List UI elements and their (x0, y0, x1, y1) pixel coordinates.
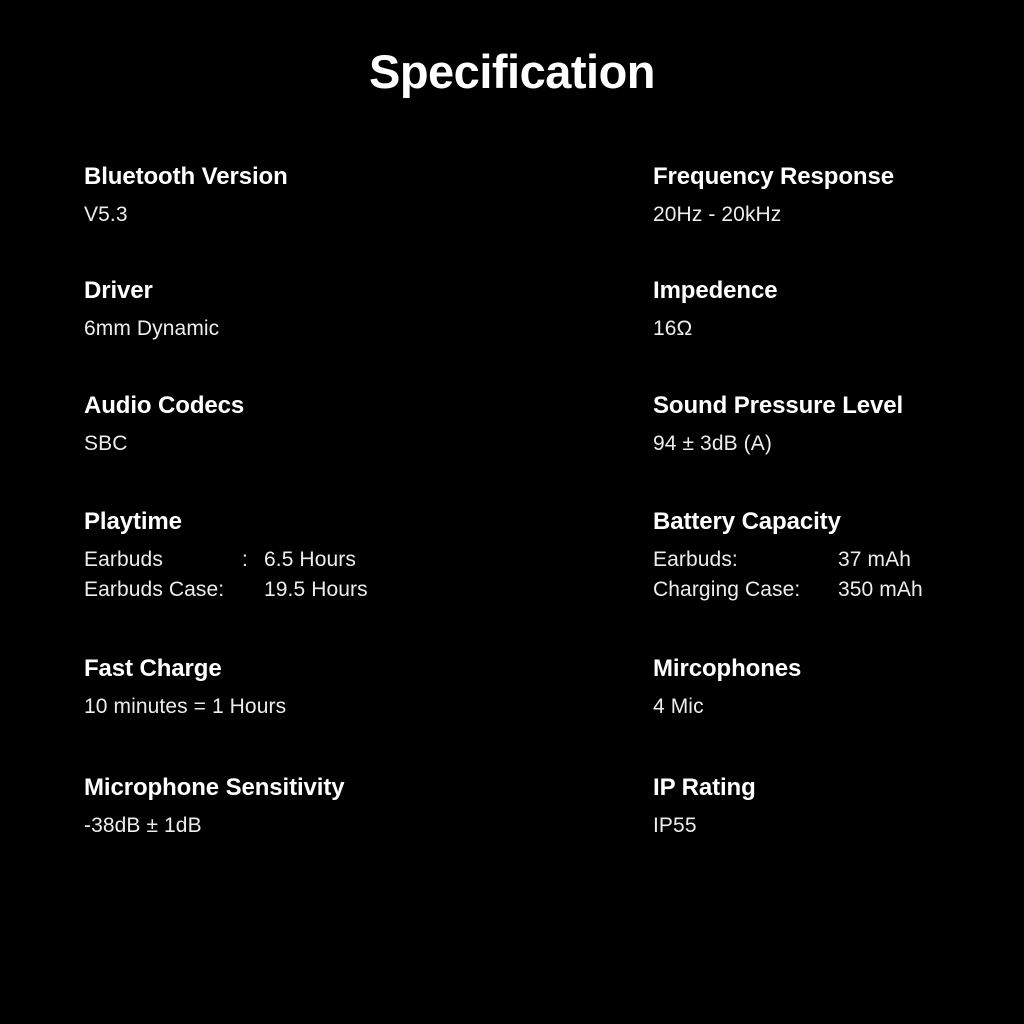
spec-heading: Battery Capacity (653, 508, 1024, 536)
spec-heading: Frequency Response (653, 163, 1024, 191)
spec-row: Earbuds:37 mAh (653, 545, 1024, 575)
spec-row-label: Charging Case: (653, 575, 838, 605)
spec-row-label: Earbuds (84, 545, 242, 575)
spec-block-impedence: Impedence 16Ω (653, 277, 1024, 342)
spec-block-battery-capacity: Battery Capacity Earbuds:37 mAh Charging… (653, 508, 1024, 605)
spec-row-value: 19.5 Hours (264, 575, 368, 605)
spec-row-value: 350 mAh (838, 575, 923, 605)
spec-rows: Earbuds:6.5 Hours Earbuds Case:19.5 Hour… (84, 545, 464, 605)
spec-heading: Fast Charge (84, 655, 464, 683)
spec-value: 16Ω (653, 316, 1024, 342)
spec-block-driver: Driver 6mm Dynamic (84, 277, 464, 342)
spec-rows: Earbuds:37 mAh Charging Case:350 mAh (653, 545, 1024, 605)
spec-value: 20Hz - 20kHz (653, 202, 1024, 228)
spec-block-sound-pressure-level: Sound Pressure Level 94 ± 3dB (A) (653, 392, 1024, 457)
specification-page: Specification Bluetooth Version V5.3 Dri… (0, 0, 1024, 1024)
spec-heading: Microphone Sensitivity (84, 774, 464, 802)
spec-value: 94 ± 3dB (A) (653, 431, 1024, 457)
spec-row-separator: : (242, 545, 264, 575)
spec-value: 4 Mic (653, 694, 1024, 720)
spec-value: -38dB ± 1dB (84, 813, 464, 839)
spec-block-frequency-response: Frequency Response 20Hz - 20kHz (653, 163, 1024, 228)
spec-heading: Mircophones (653, 655, 1024, 683)
spec-heading: Impedence (653, 277, 1024, 305)
spec-value: IP55 (653, 813, 1024, 839)
spec-block-playtime: Playtime Earbuds:6.5 Hours Earbuds Case:… (84, 508, 464, 605)
spec-heading: Audio Codecs (84, 392, 464, 420)
spec-heading: Driver (84, 277, 464, 305)
spec-row-value: 37 mAh (838, 545, 911, 575)
spec-heading: Sound Pressure Level (653, 392, 1024, 420)
spec-block-mircophones: Mircophones 4 Mic (653, 655, 1024, 720)
spec-row-label: Earbuds: (653, 545, 838, 575)
spec-value: SBC (84, 431, 464, 457)
spec-value: 6mm Dynamic (84, 316, 464, 342)
spec-block-microphone-sensitivity: Microphone Sensitivity -38dB ± 1dB (84, 774, 464, 839)
spec-block-bluetooth-version: Bluetooth Version V5.3 (84, 163, 464, 228)
spec-value: 10 minutes = 1 Hours (84, 694, 464, 720)
spec-block-ip-rating: IP Rating IP55 (653, 774, 1024, 839)
spec-block-audio-codecs: Audio Codecs SBC (84, 392, 464, 457)
page-title: Specification (0, 48, 1024, 95)
spec-row: Earbuds Case:19.5 Hours (84, 575, 464, 605)
spec-heading: IP Rating (653, 774, 1024, 802)
spec-heading: Bluetooth Version (84, 163, 464, 191)
spec-row-label: Earbuds Case: (84, 575, 242, 605)
spec-heading: Playtime (84, 508, 464, 536)
spec-row-value: 6.5 Hours (264, 545, 356, 575)
spec-block-fast-charge: Fast Charge 10 minutes = 1 Hours (84, 655, 464, 720)
spec-row: Earbuds:6.5 Hours (84, 545, 464, 575)
spec-value: V5.3 (84, 202, 464, 228)
spec-row: Charging Case:350 mAh (653, 575, 1024, 605)
